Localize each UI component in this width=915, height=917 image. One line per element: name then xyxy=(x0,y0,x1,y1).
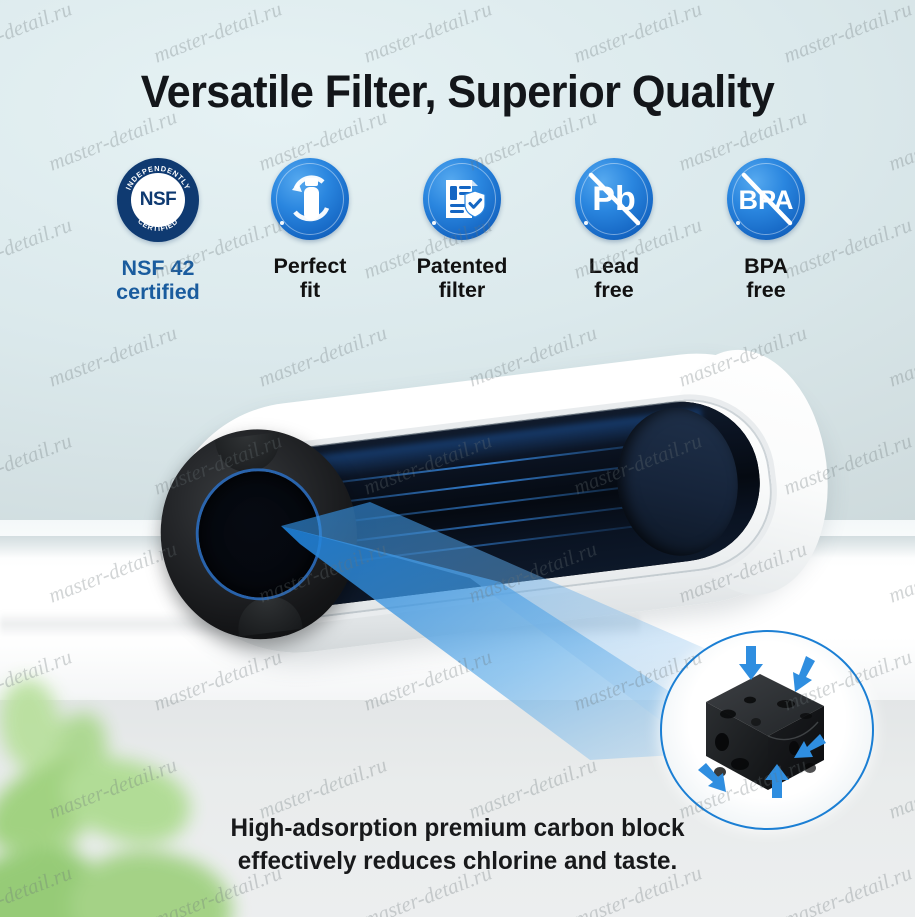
bpa-text: BPA xyxy=(738,185,793,215)
no-bpa-icon: BPA xyxy=(727,158,805,240)
caption-line1: High-adsorption premium carbon block xyxy=(14,812,902,845)
badge-label-nsf: NSF 42 certified xyxy=(116,256,200,304)
document-shield-glyph xyxy=(423,158,501,240)
badge-label-line1: Lead xyxy=(589,254,639,278)
badge-label-line2: certified xyxy=(116,280,200,304)
product-caption: High-adsorption premium carbon block eff… xyxy=(0,812,915,879)
product-marketing-image: Versatile Filter, Superior Quality INDEP… xyxy=(0,0,915,917)
cartridge-rotate-glyph xyxy=(271,158,349,240)
nsf-seal-icon: INDEPENDENTLY CERTIFIED NSF xyxy=(117,158,199,242)
pb-crossed-glyph: Pb xyxy=(575,158,653,240)
feature-badge-row: INDEPENDENTLY CERTIFIED NSF NSF 42 certi… xyxy=(92,158,832,328)
badge-perfect-fit: Perfect fit xyxy=(244,158,376,302)
adsorption-arrows xyxy=(660,630,870,826)
badge-label-line2: filter xyxy=(417,278,508,302)
badge-label-line1: NSF 42 xyxy=(116,256,200,280)
caption-line2: effectively reduces chlorine and taste. xyxy=(14,845,902,878)
nsf-seal-ring-text: INDEPENDENTLY CERTIFIED xyxy=(117,158,199,242)
badge-patented-filter: Patented filter xyxy=(396,158,528,302)
badge-label-patented-filter: Patented filter xyxy=(417,254,508,302)
badge-label-perfect-fit: Perfect fit xyxy=(274,254,347,302)
no-lead-pb-icon: Pb xyxy=(575,158,653,240)
badge-label-line2: free xyxy=(744,278,788,302)
pb-text: Pb xyxy=(592,180,635,218)
badge-label-line1: Patented xyxy=(417,254,508,278)
badge-bpa-free: BPA BPA free xyxy=(700,158,832,302)
badge-label-line1: Perfect xyxy=(274,254,347,278)
nsf-certified-text: CERTIFIED xyxy=(136,217,180,233)
page-title: Versatile Filter, Superior Quality xyxy=(18,66,896,118)
carbon-block-magnifier-inset xyxy=(660,630,880,830)
bpa-crossed-glyph: BPA xyxy=(727,158,805,240)
badge-label-bpa-free: BPA free xyxy=(744,254,788,302)
badge-label-lead-free: Lead free xyxy=(589,254,639,302)
filter-cartridge-rotate-icon xyxy=(271,158,349,240)
product-illustration xyxy=(0,330,915,760)
patent-document-shield-icon xyxy=(423,158,501,240)
nsf-independently-text: INDEPENDENTLY xyxy=(124,164,193,191)
badge-label-line1: BPA xyxy=(744,254,788,278)
badge-lead-free: Pb Lead free xyxy=(548,158,680,302)
badge-nsf-42-certified: INDEPENDENTLY CERTIFIED NSF NSF 42 certi… xyxy=(92,158,224,304)
badge-label-line2: fit xyxy=(274,278,347,302)
badge-label-line2: free xyxy=(589,278,639,302)
